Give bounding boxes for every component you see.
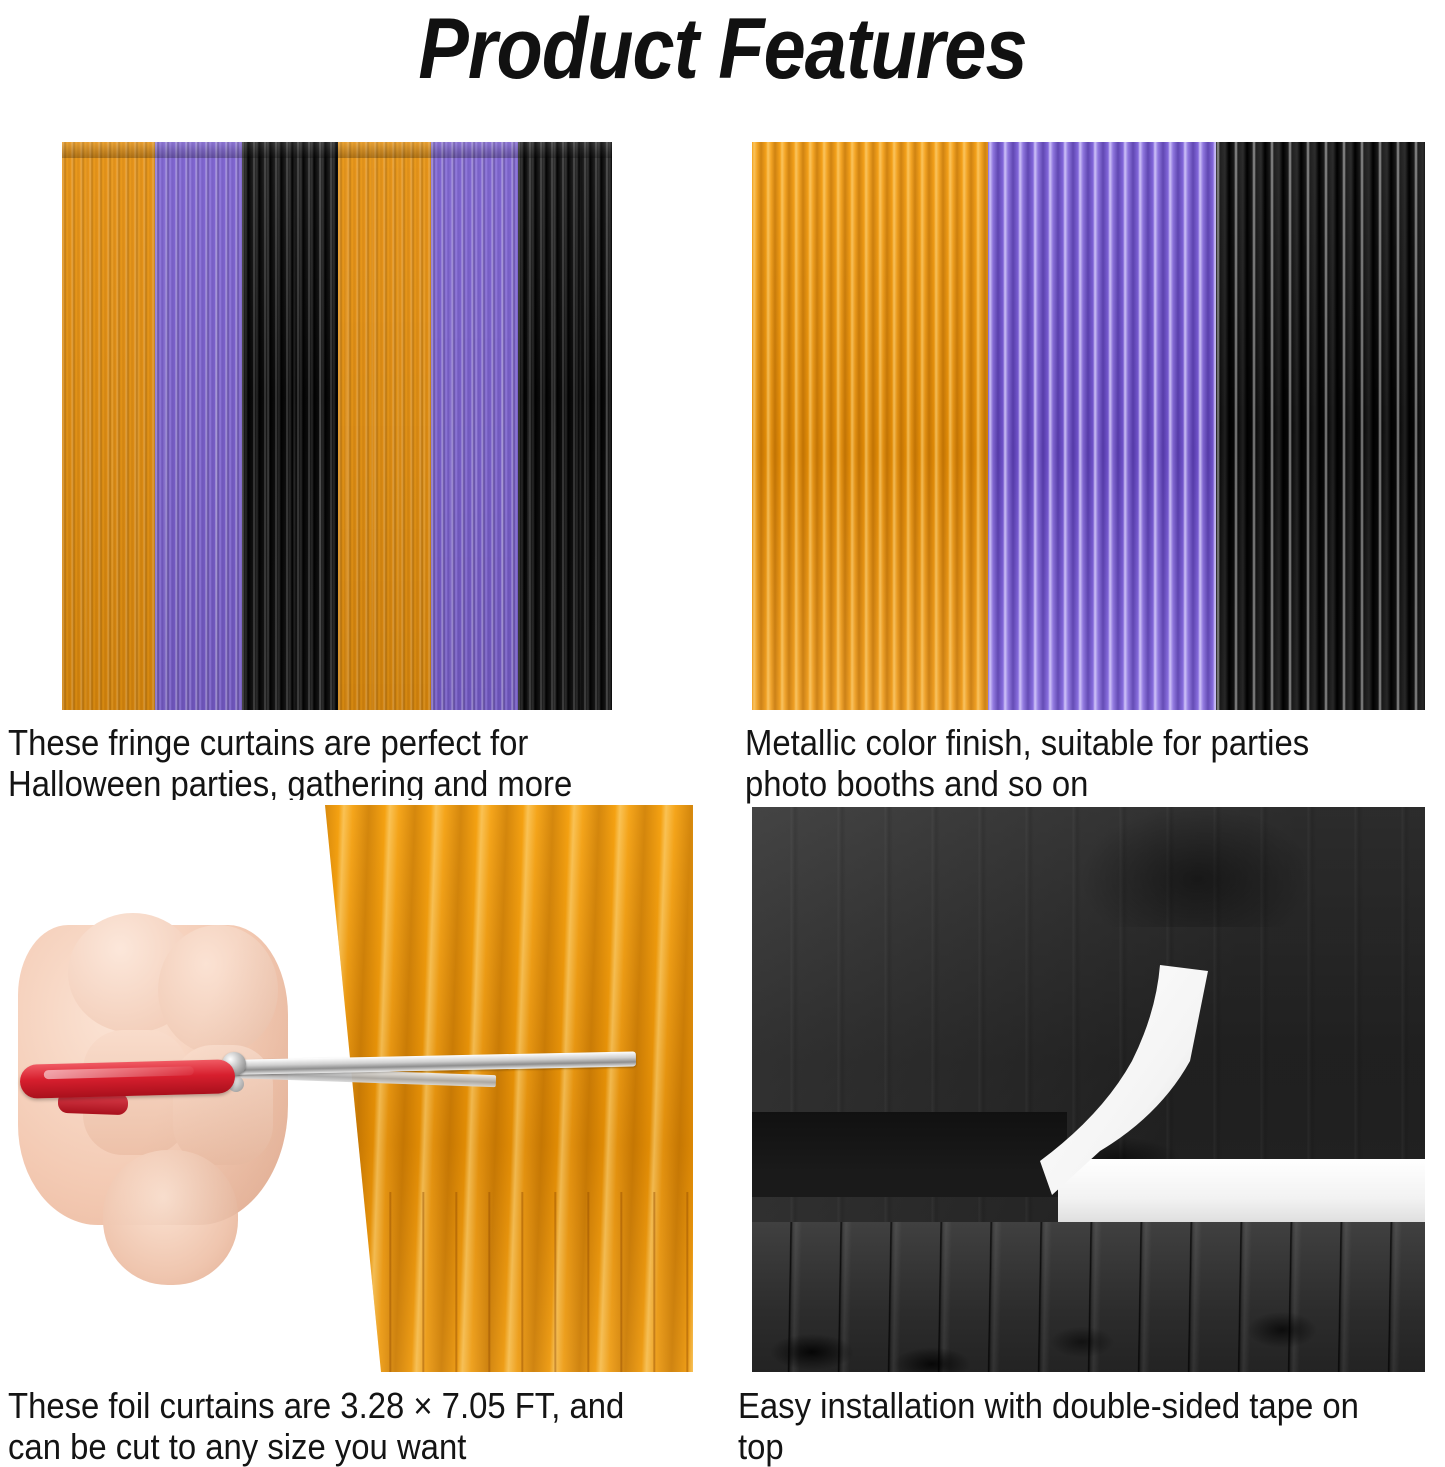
tape-curl-band: [1040, 965, 1220, 1195]
curtain-shadow: [1082, 807, 1312, 927]
fringe-panel-black-2: [518, 142, 612, 710]
panel-strands: [155, 142, 242, 710]
closeup-strands: [752, 142, 988, 710]
feature-1-caption: These fringe curtains are perfect for Ha…: [8, 722, 665, 804]
orange-curtain-region: [293, 800, 712, 1372]
fringe-dark-folds: [752, 1282, 1425, 1372]
curtain-top-dark-band-2: [752, 1177, 1082, 1197]
fringe-panel-orange-2: [338, 142, 432, 710]
panel-top-band: [338, 142, 432, 158]
panel-strands: [518, 142, 612, 710]
closeup-strands: [1216, 142, 1425, 710]
curtain-top-dark-band: [752, 1112, 1067, 1180]
handle-highlight: [44, 1066, 194, 1079]
feature-3-caption: These foil curtains are 3.28 × 7.05 FT, …: [8, 1385, 656, 1467]
closeup-panel-black: [1216, 142, 1425, 710]
panel-strands: [338, 142, 432, 710]
panel-top-band: [431, 142, 518, 158]
page-title: Product Features: [87, 4, 1359, 94]
fringe-curtains-six-panels-image: [62, 142, 612, 710]
double-sided-tape-image: [752, 807, 1425, 1372]
closeup-panel-purple: [988, 142, 1217, 710]
panel-top-band: [155, 142, 242, 158]
fringe-panel-orange-1: [62, 142, 155, 710]
tape-peeling-curl: [1040, 965, 1220, 1195]
fringe-panel-purple-1: [155, 142, 242, 710]
panel-strands: [62, 142, 155, 710]
fringe-panel-row: [62, 142, 612, 710]
feature-2-caption: Metallic color finish, suitable for part…: [745, 722, 1380, 804]
closeup-panel-orange: [752, 142, 988, 710]
panel-strands: [431, 142, 518, 710]
orange-foil-curtain: [293, 805, 693, 1372]
metallic-finish-closeup-image: [752, 142, 1425, 710]
fringe-panel-black-1: [242, 142, 338, 710]
panel-top-band: [518, 142, 612, 158]
curtain-fringe-cuts: [293, 1192, 693, 1372]
closeup-strands: [988, 142, 1217, 710]
panel-strands: [242, 142, 338, 710]
scissors-handle-red: [20, 1059, 236, 1099]
feature-4-caption: Easy installation with double-sided tape…: [738, 1385, 1379, 1467]
panel-top-band: [242, 142, 338, 158]
product-features-page: Product Features: [0, 0, 1445, 1464]
fringe-panel-purple-2: [431, 142, 518, 710]
panel-top-band: [62, 142, 155, 158]
black-fringe-strips: [752, 1222, 1425, 1372]
cutting-curtain-with-scissors-image: [0, 800, 712, 1372]
closeup-panel-row: [752, 142, 1425, 710]
